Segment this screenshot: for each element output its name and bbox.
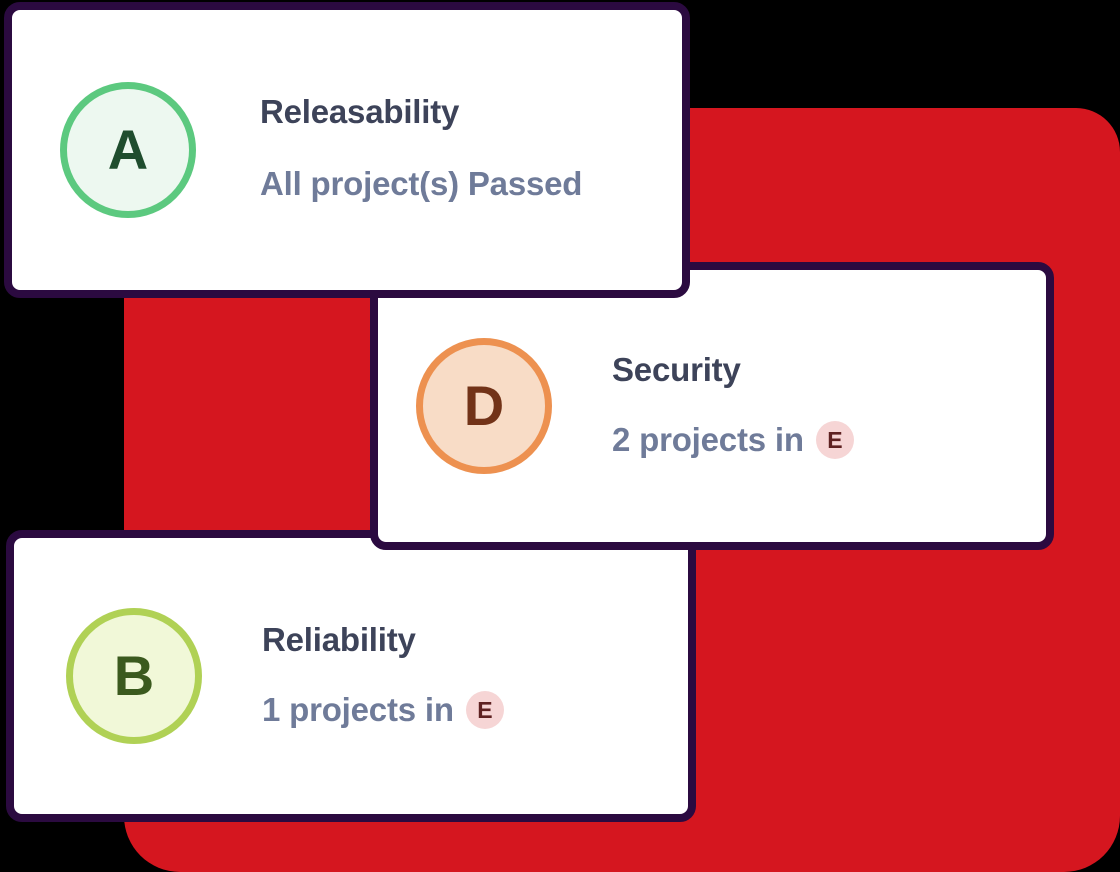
grade-circle-security: D (416, 338, 552, 474)
grade-letter: A (108, 122, 148, 178)
card-subtitle-text: 1 projects in (262, 691, 454, 729)
grade-letter: D (464, 378, 504, 434)
card-text-releasability: Releasability All project(s) Passed (260, 93, 582, 203)
mini-grade-badge: E (816, 421, 854, 459)
card-releasability[interactable]: A Releasability All project(s) Passed (4, 2, 690, 298)
quality-overview-stage: A Releasability All project(s) Passed D … (0, 0, 1120, 872)
card-security[interactable]: D Security 2 projects in E (370, 262, 1054, 550)
card-subtitle-row: 1 projects in E (262, 691, 504, 729)
grade-circle-releasability: A (60, 82, 196, 218)
card-text-security: Security 2 projects in E (612, 351, 854, 459)
grade-circle-reliability: B (66, 608, 202, 744)
card-text-reliability: Reliability 1 projects in E (262, 621, 504, 729)
card-title: Security (612, 351, 854, 389)
card-subtitle-row: All project(s) Passed (260, 165, 582, 203)
card-subtitle-text: 2 projects in (612, 421, 804, 459)
grade-letter: B (114, 648, 154, 704)
mini-grade-badge: E (466, 691, 504, 729)
card-reliability[interactable]: B Reliability 1 projects in E (6, 530, 696, 822)
card-title: Reliability (262, 621, 504, 659)
card-title: Releasability (260, 93, 582, 131)
card-subtitle-text: All project(s) Passed (260, 165, 582, 203)
card-subtitle-row: 2 projects in E (612, 421, 854, 459)
